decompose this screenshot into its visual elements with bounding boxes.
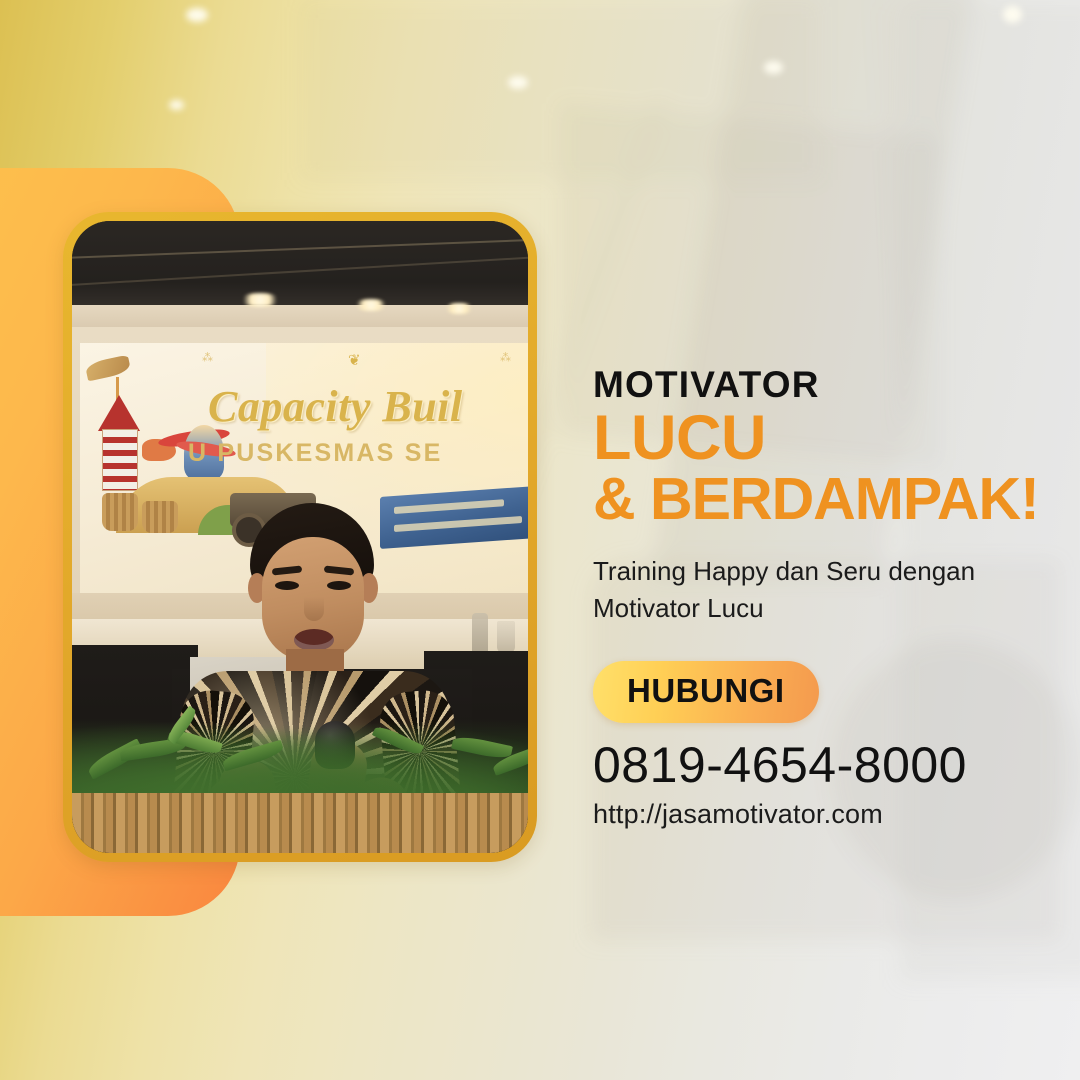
phone-number[interactable]: 0819-4654-8000 [593, 739, 1053, 792]
speaker-eye-left [275, 581, 299, 590]
banner-ornament-right: ⁂ [500, 351, 514, 364]
ceiling-light-3 [508, 76, 528, 89]
ceiling-light-1 [186, 8, 208, 22]
banner-ornament-mid: ❦ [348, 351, 364, 370]
headline-line-2: & BERDAMPAK! [593, 471, 1053, 527]
speaker-eye-right [327, 581, 351, 590]
speaker-photo-card: ⁂ ❦ ⁂ Capacity Buil U PUSKESMAS SE [63, 212, 537, 862]
photo-spotlight-3 [444, 303, 474, 314]
banner-ornament-left: ⁂ [202, 351, 216, 364]
photo-bamboo-fence [72, 793, 528, 853]
banner-subtitle: U PUSKESMAS SE [188, 439, 442, 468]
photo-spotlight-1 [240, 293, 280, 307]
photo-spotlight-2 [354, 299, 388, 311]
subtitle-text: Training Happy dan Seru dengan Motivator… [593, 553, 1033, 627]
photo-glass [497, 621, 515, 653]
website-url[interactable]: http://jasamotivator.com [593, 799, 1053, 830]
banner-date-ribbon [380, 485, 528, 549]
promotional-poster: ⁂ ❦ ⁂ Capacity Buil U PUSKESMAS SE [0, 0, 1080, 1080]
speaker-nose [304, 597, 324, 621]
speaker-photo: ⁂ ❦ ⁂ Capacity Buil U PUSKESMAS SE [72, 221, 528, 853]
photo-ceiling [72, 221, 528, 309]
speaker-mouth [294, 629, 334, 651]
headline-line-1: LUCU [593, 409, 1053, 469]
hubungi-cta-button[interactable]: HUBUNGI [593, 661, 819, 723]
ceiling-light-4 [764, 61, 783, 74]
ceiling-light-2 [169, 100, 184, 110]
banner-title: Capacity Buil [208, 381, 463, 432]
eyebrow-heading: MOTIVATOR [593, 366, 1053, 403]
ceiling-light-5 [1003, 6, 1022, 23]
poster-content: MOTIVATOR LUCU & BERDAMPAK! Training Hap… [593, 366, 1053, 830]
